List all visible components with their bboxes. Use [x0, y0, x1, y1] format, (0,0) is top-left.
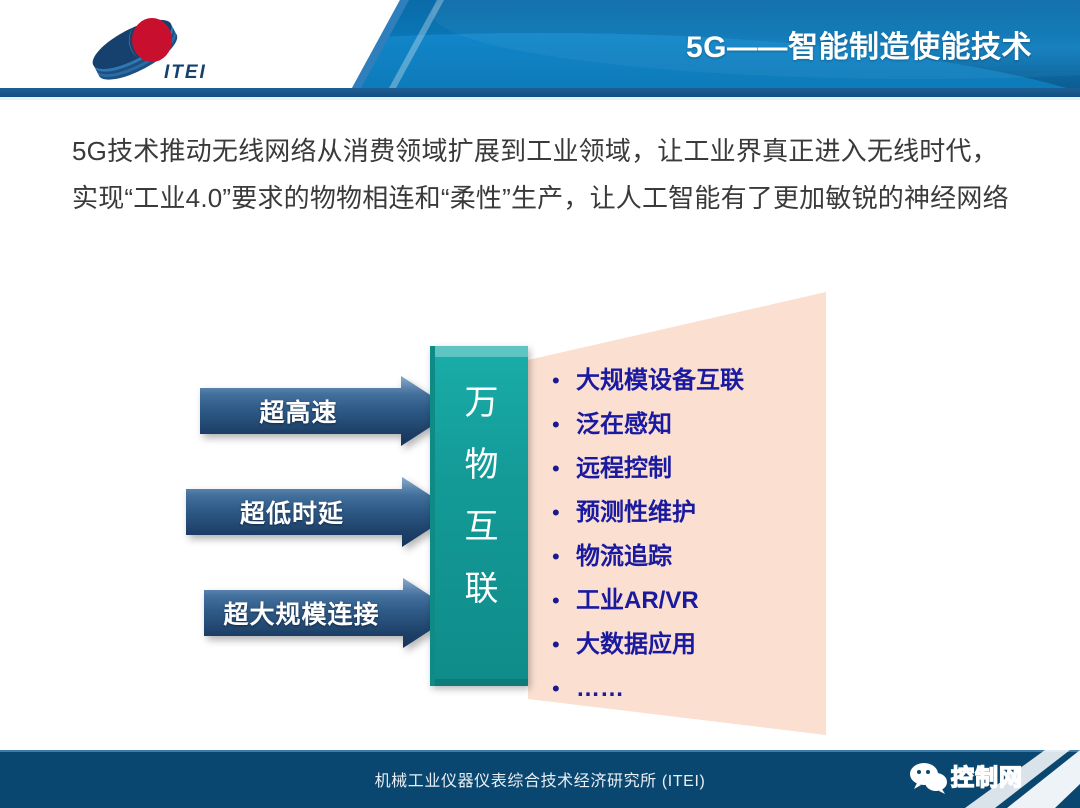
bullet-marker-icon: •: [552, 362, 576, 400]
bullet-marker-icon: •: [552, 582, 576, 620]
body-paragraph: 5G技术推动无线网络从消费领域扩展到工业领域，让工业界真正进入无线时代，实现“工…: [72, 128, 1022, 222]
benefits-bullet-list: • 大规模设备互联 • 泛在感知 • 远程控制 • 预测性维护 • 物流追踪 •…: [552, 362, 832, 714]
list-item: • 大数据应用: [552, 626, 832, 664]
list-item: • 泛在感知: [552, 406, 832, 444]
wechat-icon: [909, 762, 949, 794]
list-item: • 工业AR/VR: [552, 582, 832, 620]
list-item-label: 大数据应用: [576, 626, 696, 664]
itei-logo: ITEI: [72, 14, 222, 88]
bullet-marker-icon: •: [552, 406, 576, 444]
center-box-label: 万 物 互 联: [435, 372, 528, 620]
list-item-label: 预测性维护: [576, 494, 696, 532]
arrow-label: 超高速: [200, 376, 397, 446]
center-box-iot[interactable]: 万 物 互 联: [430, 346, 528, 686]
list-item: • 大规模设备互联: [552, 362, 832, 400]
arrow-massive-connections[interactable]: 超大规模连接: [204, 578, 457, 648]
list-item: • 远程控制: [552, 450, 832, 488]
arrow-label: 超低时延: [186, 477, 398, 547]
bullet-marker-icon: •: [552, 450, 576, 488]
list-item: • ……: [552, 670, 832, 708]
body-paragraph-block: 5G技术推动无线网络从消费领域扩展到工业领域，让工业界真正进入无线时代，实现“工…: [72, 128, 1022, 222]
arrow-label: 超大规模连接: [204, 578, 399, 648]
bullet-marker-icon: •: [552, 626, 576, 664]
header-divider-highlight: [0, 97, 1080, 100]
center-box-char-3: 互: [435, 496, 528, 558]
diagram-area: 超高速 超低时延 超大规模连接 万 物 互 联 • 大规模设备互联: [0, 280, 1080, 750]
list-item-label: ……: [576, 670, 624, 708]
logo-text: ITEI: [164, 62, 207, 84]
arrow-super-high-speed[interactable]: 超高速: [200, 376, 455, 446]
center-box-char-2: 物: [435, 434, 528, 496]
watermark: 控制网: [895, 750, 1080, 808]
list-item-label: 工业AR/VR: [576, 582, 699, 620]
list-item-label: 泛在感知: [576, 406, 672, 444]
center-box-char-1: 万: [435, 372, 528, 434]
bullet-marker-icon: •: [552, 494, 576, 532]
header-divider-rule: [0, 88, 1080, 97]
list-item-label: 大规模设备互联: [576, 362, 744, 400]
arrow-ultra-low-latency[interactable]: 超低时延: [186, 477, 456, 547]
watermark-label: 控制网: [951, 762, 1023, 792]
list-item: • 预测性维护: [552, 494, 832, 532]
slide-footer: 机械工业仪器仪表综合技术经济研究所 (ITEI) 控制网: [0, 750, 1080, 808]
bullet-marker-icon: •: [552, 538, 576, 576]
bullet-marker-icon: •: [552, 670, 576, 708]
list-item-label: 物流追踪: [576, 538, 672, 576]
list-item-label: 远程控制: [576, 450, 672, 488]
center-box-char-4: 联: [435, 558, 528, 620]
page-title: 5G——智能制造使能技术: [686, 22, 1032, 66]
list-item: • 物流追踪: [552, 538, 832, 576]
slide-canvas: 5G——智能制造使能技术 ITEI 5G技术推动无线网络从消费领域扩展到工业领域…: [0, 0, 1080, 808]
